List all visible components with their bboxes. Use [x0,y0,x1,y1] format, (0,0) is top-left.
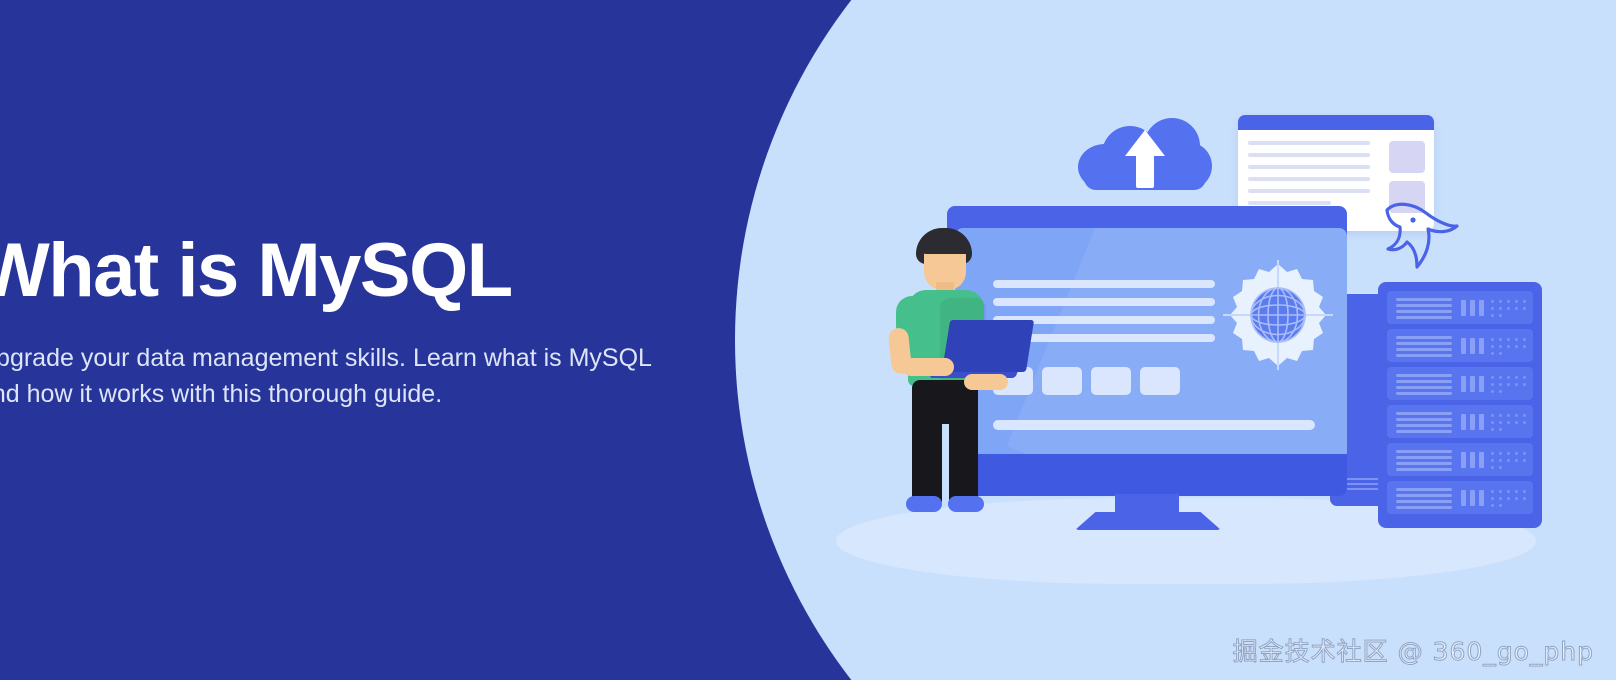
screen-progress-bar [993,420,1315,430]
person-with-laptop [880,228,1020,528]
person-shoe-left [906,496,942,512]
rack-unit [1387,405,1533,438]
hero-subtitle: Upgrade your data management skills. Lea… [0,340,668,412]
person-hand-left [902,358,954,376]
laptop-screen [942,320,1034,372]
mysql-dolphin-logo [1373,193,1459,277]
cloud-upload-icon [1078,118,1212,190]
person-hand-right [964,374,1008,390]
person-fringe [920,236,970,254]
person-shoe-right [948,496,984,512]
rack-unit [1387,443,1533,476]
rack-unit [1387,291,1533,324]
rack-unit [1387,481,1533,514]
hero-copy: What is MySQL Upgrade your data manageme… [0,228,698,412]
watermark: 掘金技术社区 @ 360_go_php [1233,632,1594,668]
monitor-stand [1075,512,1221,530]
card-titlebar [1238,115,1434,130]
upload-arrow-icon [1125,130,1165,156]
rack-unit [1387,329,1533,362]
card-text-lines [1248,141,1370,205]
page-title: What is MySQL [0,228,698,314]
rack-unit [1387,367,1533,400]
gear-globe-icon [1223,260,1333,370]
hero-banner: What is MySQL Upgrade your data manageme… [0,0,1616,680]
server-rack-front [1378,282,1542,528]
